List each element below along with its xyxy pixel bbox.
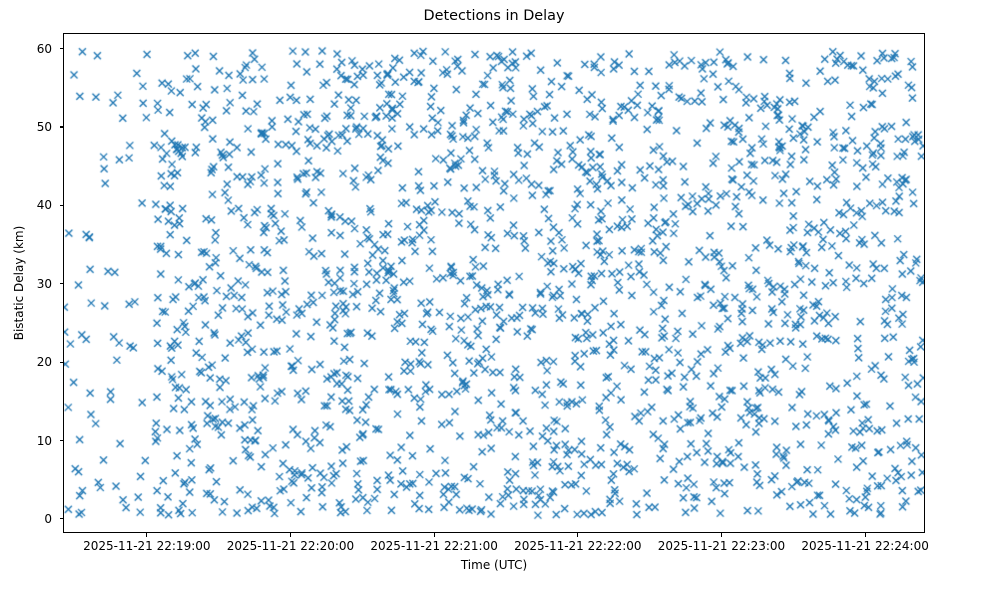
y-tick-mark: [60, 440, 64, 441]
y-tick-label: 10: [0, 434, 52, 448]
plot-axes: [63, 33, 925, 533]
x-tick-mark: [577, 533, 578, 537]
x-tick-label: 2025-11-21 22:21:00: [370, 539, 497, 553]
scatter-plot-canvas: [64, 34, 924, 532]
y-tick-label: 50: [0, 120, 52, 134]
y-tick-label: 60: [0, 42, 52, 56]
y-tick-label: 20: [0, 355, 52, 369]
x-axis-label: Time (UTC): [63, 558, 925, 572]
x-tick-mark: [721, 533, 722, 537]
y-axis-label: Bistatic Delay (km): [12, 226, 26, 341]
y-tick-mark: [60, 518, 64, 519]
x-tick-label: 2025-11-21 22:19:00: [83, 539, 210, 553]
y-tick-mark: [60, 362, 64, 363]
y-tick-mark: [60, 126, 64, 127]
y-tick-mark: [60, 283, 64, 284]
matplotlib-figure: Detections in Delay 0102030405060 2025-1…: [0, 0, 987, 590]
y-tick-mark: [60, 205, 64, 206]
y-tick-label: 40: [0, 198, 52, 212]
x-tick-mark: [146, 533, 147, 537]
page-title: Detections in Delay: [63, 8, 925, 25]
x-tick-label: 2025-11-21 22:23:00: [658, 539, 785, 553]
x-tick-mark: [865, 533, 866, 537]
y-tick-mark: [60, 48, 64, 49]
x-tick-label: 2025-11-21 22:20:00: [227, 539, 354, 553]
x-tick-label: 2025-11-21 22:22:00: [514, 539, 641, 553]
y-tick-label: 30: [0, 277, 52, 291]
x-tick-label: 2025-11-21 22:24:00: [801, 539, 928, 553]
y-tick-label: 0: [0, 512, 52, 526]
x-tick-mark: [290, 533, 291, 537]
x-tick-mark: [434, 533, 435, 537]
